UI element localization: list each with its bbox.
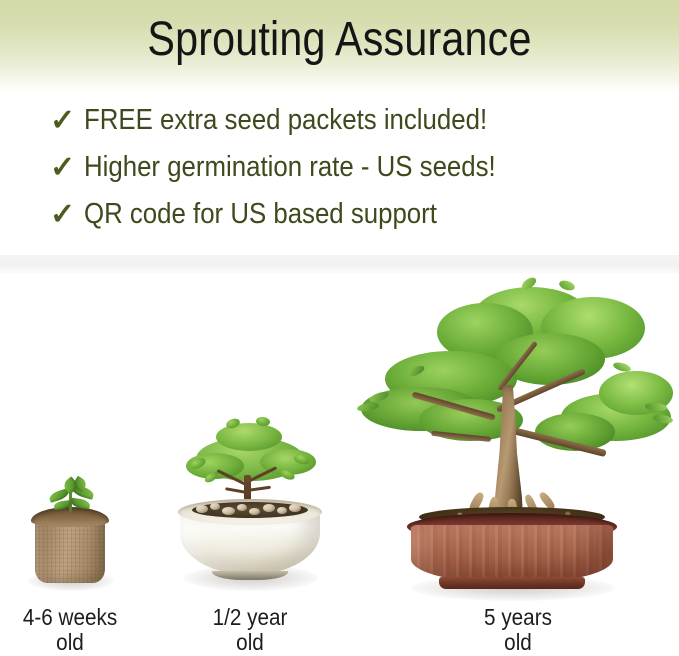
pebble	[237, 504, 247, 511]
assurance-list-section: ✓ FREE extra seed packets included! ✓ Hi…	[0, 92, 679, 255]
list-item-label: FREE extra seed packets included!	[84, 104, 487, 137]
caption-line-2: old	[455, 630, 581, 655]
list-item-label: QR code for US based support	[84, 198, 437, 231]
list-item: ✓ QR code for US based support	[50, 198, 670, 245]
section-divider	[0, 255, 679, 273]
list-item-label: Higher germination rate - US seeds!	[84, 151, 496, 184]
pebble	[210, 503, 220, 510]
caption-line-1: 1/2 year	[187, 605, 313, 630]
pebble	[196, 505, 208, 513]
growth-stages-photo-area	[0, 273, 679, 603]
caption-young-bonsai: 1/2 year old	[187, 605, 313, 655]
pebble-layer-top	[192, 501, 308, 519]
caption-line-2: old	[7, 630, 133, 655]
seedling-photo	[22, 473, 118, 593]
pebble	[289, 504, 301, 512]
caption-line-1: 4-6 weeks	[7, 605, 133, 630]
page-title: Sprouting Assurance	[48, 12, 632, 67]
terracotta-pot	[411, 525, 613, 582]
check-icon: ✓	[50, 106, 84, 136]
foliage-mass	[216, 423, 282, 451]
check-icon: ✓	[50, 153, 84, 183]
stage-captions: 4-6 weeks old 1/2 year old 5 years old	[0, 603, 679, 656]
young-bonsai-photo	[168, 403, 333, 593]
caption-line-1: 5 years	[455, 605, 581, 630]
pot-foot	[439, 577, 585, 589]
caption-line-2: old	[187, 630, 313, 655]
caption-seedling: 4-6 weeks old	[7, 605, 133, 655]
list-item: ✓ FREE extra seed packets included!	[50, 104, 670, 151]
pebble	[277, 507, 287, 514]
assurance-list: ✓ FREE extra seed packets included! ✓ Hi…	[50, 104, 670, 245]
pebble	[249, 508, 260, 515]
list-item: ✓ Higher germination rate - US seeds!	[50, 151, 670, 198]
pebble	[222, 507, 235, 515]
sprouting-assurance-infographic: Sprouting Assurance ✓ FREE extra seed pa…	[0, 0, 679, 656]
caption-mature-bonsai: 5 years old	[455, 605, 581, 655]
pebble	[263, 504, 275, 512]
mature-bonsai-photo	[345, 275, 675, 593]
check-icon: ✓	[50, 200, 84, 230]
